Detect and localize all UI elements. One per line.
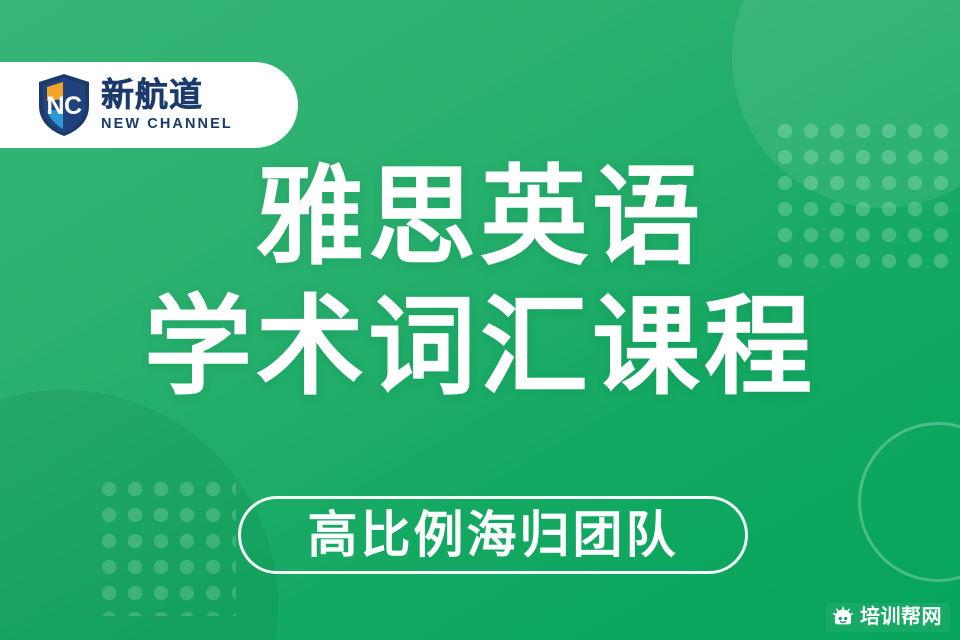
subtitle-pill: 高比例海归团队 <box>238 496 748 574</box>
shield-logo-icon: NC <box>36 73 92 137</box>
subtitle-text: 高比例海归团队 <box>308 510 679 560</box>
dot-grid-bottom-left <box>96 476 236 616</box>
watermark-text: 培训帮网 <box>860 607 942 627</box>
brand-logo-text: 新航道 NEW CHANNEL <box>101 78 233 131</box>
headline-line-1: 雅思英语 <box>0 163 960 271</box>
svg-text:NC: NC <box>46 92 82 120</box>
course-promo-banner: NC 新航道 NEW CHANNEL 雅思英语 学术词汇课程 高比例海归团队 <box>0 0 960 640</box>
brand-name-english: NEW CHANNEL <box>101 116 233 132</box>
brand-name-chinese: 新航道 <box>101 78 233 112</box>
headline-line-2: 学术词汇课程 <box>0 293 960 401</box>
headline-block: 雅思英语 学术词汇课程 <box>0 163 960 401</box>
sun-face-icon <box>832 606 854 628</box>
outline-circle-decoration <box>858 422 960 582</box>
dark-green-circle-decoration <box>0 390 278 640</box>
site-watermark: 培训帮网 <box>826 603 950 632</box>
brand-logo-pill[interactable]: NC 新航道 NEW CHANNEL <box>0 62 298 148</box>
